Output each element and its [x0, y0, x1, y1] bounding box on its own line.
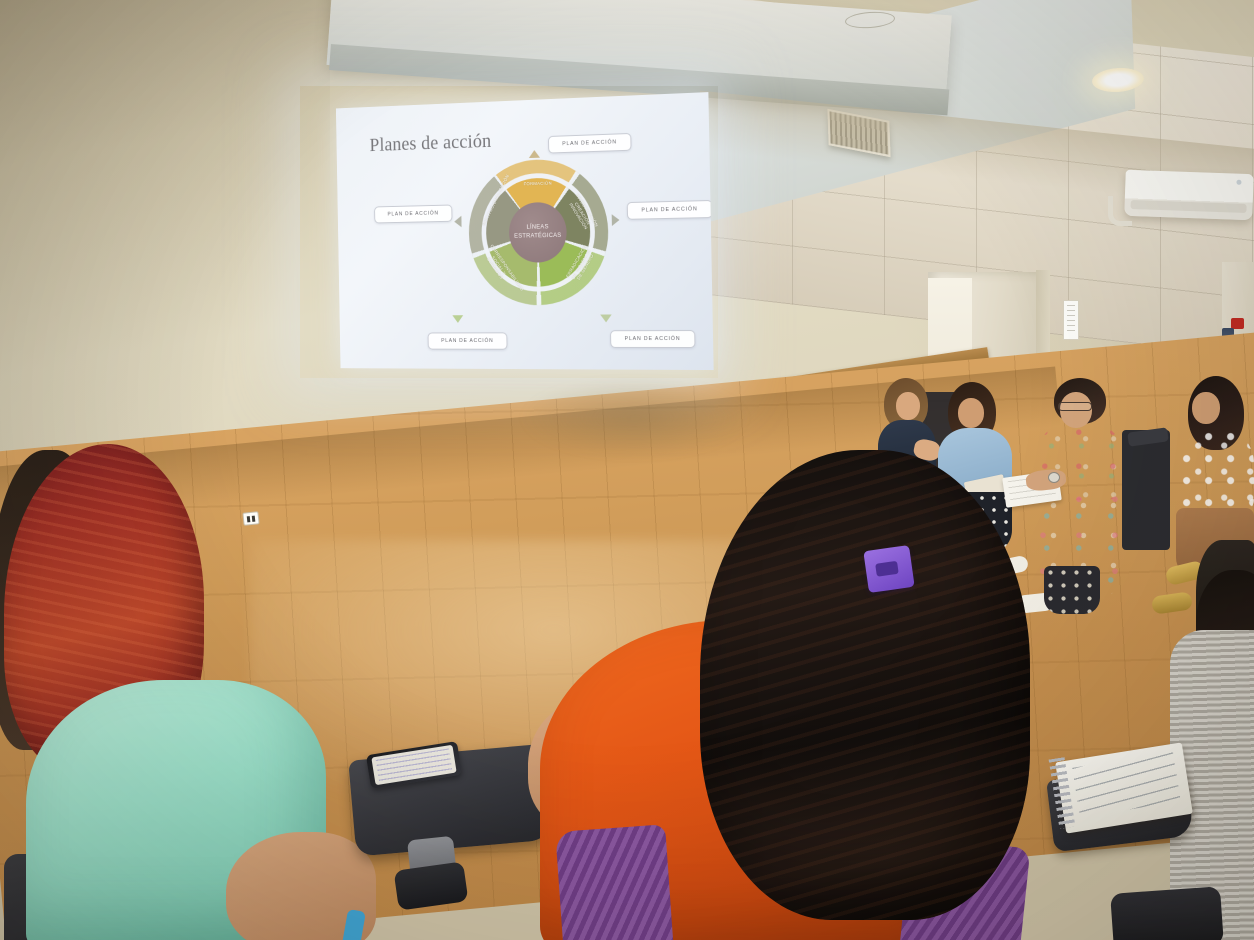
arrow-right-icon — [612, 214, 620, 226]
plan-de-accion-box-left: PLAN DE ACCIÓN — [374, 205, 452, 224]
hair-clip-icon — [863, 545, 914, 593]
wall-notice-lines — [1067, 305, 1075, 335]
strategy-donut-diagram: FORMACIÓN INVESTIGACIÓN CREACIÓN INNOVAC… — [468, 157, 610, 305]
room-scene: Planes de acción PLAN DE ACCIÓN PLAN DE … — [0, 0, 1254, 940]
arrow-down-right-icon — [600, 314, 612, 322]
slide-surface: Planes de acción PLAN DE ACCIÓN PLAN DE … — [336, 92, 714, 370]
slide-title: Planes de acción — [369, 130, 491, 156]
wristwatch-icon — [1048, 472, 1060, 483]
plan-de-accion-box-bottom-left: PLAN DE ACCIÓN — [428, 332, 508, 349]
foreground-person-with-notebook — [1050, 600, 1254, 940]
foreground-person-orange-shirt — [520, 450, 1040, 940]
ac-louver — [1130, 200, 1246, 213]
glasses-icon — [1058, 402, 1092, 411]
arrow-left-icon — [454, 216, 461, 228]
arrow-up-icon — [529, 150, 540, 158]
projection-screen: Planes de acción PLAN DE ACCIÓN PLAN DE … — [336, 92, 714, 370]
face — [896, 392, 920, 420]
plan-de-accion-box-bottom-right: PLAN DE ACCIÓN — [610, 330, 695, 348]
dark-curly-hair — [700, 450, 1030, 920]
foreground-person-red-hair — [0, 440, 390, 940]
ac-pipe — [1108, 196, 1132, 226]
ac-indicator-icon — [1236, 180, 1241, 185]
torso — [1180, 430, 1254, 514]
projection-shadow — [520, 378, 750, 458]
face — [958, 398, 984, 428]
chair-seat — [1110, 886, 1224, 940]
purple-knit-fabric — [555, 824, 674, 940]
plan-de-accion-box-right: PLAN DE ACCIÓN — [627, 200, 713, 220]
air-conditioner-icon — [1124, 170, 1254, 220]
wall-notice-sign — [1063, 300, 1079, 340]
plan-de-accion-box-top: PLAN DE ACCIÓN — [548, 133, 632, 154]
chair — [1122, 430, 1170, 550]
arrow-down-left-icon — [452, 315, 463, 323]
face — [1192, 392, 1220, 424]
